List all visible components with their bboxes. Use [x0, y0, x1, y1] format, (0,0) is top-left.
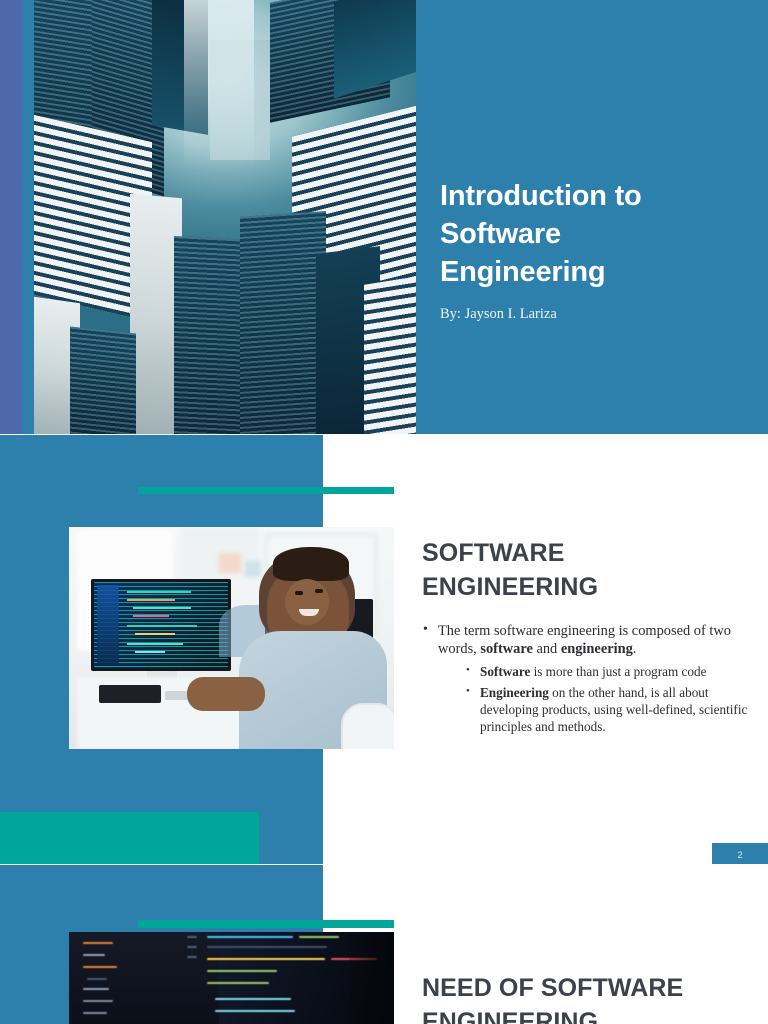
code-screen-photo	[69, 932, 394, 1024]
skyscraper-photo	[34, 0, 416, 434]
developer-photo	[69, 527, 394, 749]
bullet-text: Software is more than just a program cod…	[480, 664, 706, 679]
teal-block	[0, 812, 259, 864]
bullet-list-level2: Software is more than just a program cod…	[438, 664, 752, 737]
slide-title-text: Introduction toSoftwareEngineering	[440, 178, 750, 292]
section-heading: NEED OF SOFTWAREENGINEERING	[422, 971, 752, 1024]
slide2-content: SOFTWAREENGINEERING The term software en…	[422, 536, 752, 741]
teal-accent-bar	[138, 487, 394, 494]
bullet-list-container: The term software engineering is compose…	[422, 622, 752, 736]
bullet-text: The term software engineering is compose…	[438, 623, 731, 657]
section-heading: SOFTWAREENGINEERING	[422, 536, 752, 604]
slide3-content: NEED OF SOFTWAREENGINEERING	[422, 971, 752, 1024]
teal-accent-bar	[138, 920, 394, 928]
list-item: Software is more than just a program cod…	[466, 664, 752, 681]
title-text-block: Introduction toSoftwareEngineering By: J…	[440, 178, 750, 323]
slide-title[interactable]: Introduction toSoftwareEngineering By: J…	[0, 0, 768, 434]
list-item: Engineering on the other hand, is all ab…	[466, 685, 752, 736]
slide-software-engineering[interactable]: SOFTWAREENGINEERING The term software en…	[0, 435, 768, 864]
bullet-text: Engineering on the other hand, is all ab…	[480, 685, 747, 734]
left-blue-band	[22, 0, 34, 434]
presentation-scroll-view[interactable]: Introduction toSoftwareEngineering By: J…	[0, 0, 768, 1024]
author-byline: By: Jayson I. Lariza	[440, 306, 750, 323]
slide-need-of-software-engineering[interactable]: NEED OF SOFTWAREENGINEERING	[0, 865, 768, 1024]
bullet-list-level1: The term software engineering is compose…	[422, 622, 752, 736]
list-item: The term software engineering is compose…	[422, 622, 752, 736]
left-navy-band	[0, 0, 22, 434]
page-number-badge: 2	[712, 843, 768, 864]
